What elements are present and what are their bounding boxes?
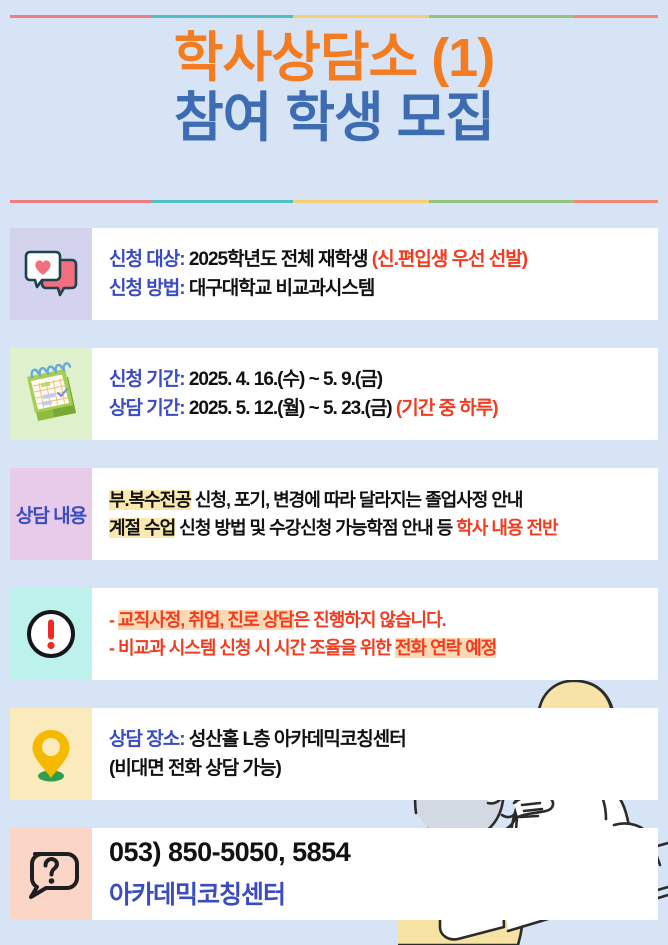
speech-bubbles-heart-icon	[10, 228, 92, 320]
application-period-value: 2025. 4. 16.(수) ~ 5. 9.(금)	[189, 369, 382, 390]
notice-highlight-1: 교직사정, 취업, 진로 상담	[118, 610, 294, 630]
notice-highlight-2: 전화 연락 예정	[395, 638, 496, 658]
application-method-line: 신청 방법: 대구대학교 비교과시스템	[109, 278, 650, 300]
counseling-period-label: 상담 기간:	[109, 398, 185, 419]
location-pin-icon	[10, 708, 92, 800]
title-line-1: 학사상담소 (1)	[0, 28, 668, 88]
divider-segment	[152, 15, 294, 18]
divider-segment	[10, 200, 152, 203]
info-row-application: 신청 대상: 2025학년도 전체 재학생 (신.편입생 우선 선발) 신청 방…	[10, 228, 658, 320]
title-line-2: 참여 학생 모집	[0, 88, 668, 148]
notice-dash-2: -	[109, 638, 114, 658]
application-target-label: 신청 대상:	[109, 249, 185, 270]
content-line-2: 계절 수업 신청 방법 및 수강신청 가능학점 안내 등 학사 내용 전반	[109, 518, 650, 539]
info-row-content: 상담 내용 부.복수전공 신청, 포기, 변경에 따라 달라지는 졸업사정 안내…	[10, 468, 658, 560]
info-row-contact: 053) 850-5050, 5854 아카데믹코칭센터	[10, 828, 658, 920]
counseling-content-label-cell: 상담 내용	[10, 468, 92, 560]
content-highlight-2: 계절 수업	[109, 518, 175, 538]
row-text-application: 신청 대상: 2025학년도 전체 재학생 (신.편입생 우선 선발) 신청 방…	[92, 228, 658, 320]
divider-segment	[10, 15, 152, 18]
application-period-label: 신청 기간:	[109, 369, 185, 390]
divider-segment	[293, 15, 429, 18]
application-target-note: (신.편입생 우선 선발)	[372, 249, 527, 270]
desk-calendar-icon	[10, 348, 92, 440]
contact-department: 아카데믹코칭센터	[109, 875, 650, 911]
application-method-value: 대구대학교 비교과시스템	[189, 278, 375, 299]
exclamation-circle-icon	[10, 588, 92, 680]
divider-segment	[574, 15, 658, 18]
info-row-notice: - 교직사정, 취업, 진로 상담은 진행하지 않습니다. - 비교과 시스템 …	[10, 588, 658, 680]
divider-segment	[152, 200, 294, 203]
notice-text-1: 은 진행하지 않습니다.	[294, 610, 446, 630]
notice-line-1: - 교직사정, 취업, 진로 상담은 진행하지 않습니다.	[109, 610, 650, 631]
content-text-2: 신청 방법 및 수강신청 가능학점 안내 등	[179, 518, 452, 538]
counseling-period-note: (기간 중 하루)	[396, 398, 498, 419]
info-row-period: 신청 기간: 2025. 4. 16.(수) ~ 5. 9.(금) 상담 기간:…	[10, 348, 658, 440]
divider-segment	[429, 15, 574, 18]
application-target-value: 2025학년도 전체 재학생	[189, 249, 368, 270]
notice-line-2: - 비교과 시스템 신청 시 시간 조율을 위한 전화 연락 예정	[109, 638, 650, 659]
row-text-contact: 053) 850-5050, 5854 아카데믹코칭센터	[92, 828, 658, 920]
question-speech-bubble-icon	[10, 828, 92, 920]
application-method-label: 신청 방법:	[109, 278, 185, 299]
contact-phone: 053) 850-5050, 5854	[109, 837, 650, 868]
location-line-1: 상담 장소: 성산홀 L층 아카데믹코칭센터	[109, 729, 650, 751]
counseling-period-value: 2025. 5. 12.(월) ~ 5. 23.(금)	[189, 398, 392, 419]
counseling-content-label: 상담 내용	[16, 501, 86, 528]
counseling-period-line: 상담 기간: 2025. 5. 12.(월) ~ 5. 23.(금) (기간 중…	[109, 398, 650, 420]
poster: 학사상담소 (1) 참여 학생 모집 신청 대상: 2025학년도 전체 재학생…	[0, 0, 668, 945]
content-note-2: 학사 내용 전반	[456, 518, 557, 538]
content-line-1: 부.복수전공 신청, 포기, 변경에 따라 달라지는 졸업사정 안내	[109, 490, 650, 511]
location-line-2: (비대면 전화 상담 가능)	[109, 758, 650, 780]
content-highlight-1: 부.복수전공	[109, 490, 191, 510]
row-text-content: 부.복수전공 신청, 포기, 변경에 따라 달라지는 졸업사정 안내 계절 수업…	[92, 468, 658, 560]
info-row-location: 상담 장소: 성산홀 L층 아카데믹코칭센터 (비대면 전화 상담 가능)	[10, 708, 658, 800]
page-title: 학사상담소 (1) 참여 학생 모집	[0, 28, 668, 149]
notice-text-2: 비교과 시스템 신청 시 시간 조율을 위한	[118, 638, 391, 658]
content-text-1: 신청, 포기, 변경에 따라 달라지는 졸업사정 안내	[195, 490, 523, 510]
location-label: 상담 장소:	[109, 729, 185, 750]
divider-top	[10, 15, 658, 18]
row-text-location: 상담 장소: 성산홀 L층 아카데믹코칭센터 (비대면 전화 상담 가능)	[92, 708, 658, 800]
application-period-line: 신청 기간: 2025. 4. 16.(수) ~ 5. 9.(금)	[109, 369, 650, 391]
divider-bottom	[10, 200, 658, 203]
location-value: 성산홀 L층 아카데믹코칭센터	[189, 729, 406, 750]
divider-segment	[293, 200, 429, 203]
application-target-line: 신청 대상: 2025학년도 전체 재학생 (신.편입생 우선 선발)	[109, 249, 650, 271]
row-text-period: 신청 기간: 2025. 4. 16.(수) ~ 5. 9.(금) 상담 기간:…	[92, 348, 658, 440]
notice-dash-1: -	[109, 610, 114, 630]
divider-segment	[574, 200, 658, 203]
row-text-notice: - 교직사정, 취업, 진로 상담은 진행하지 않습니다. - 비교과 시스템 …	[92, 588, 658, 680]
divider-segment	[429, 200, 574, 203]
